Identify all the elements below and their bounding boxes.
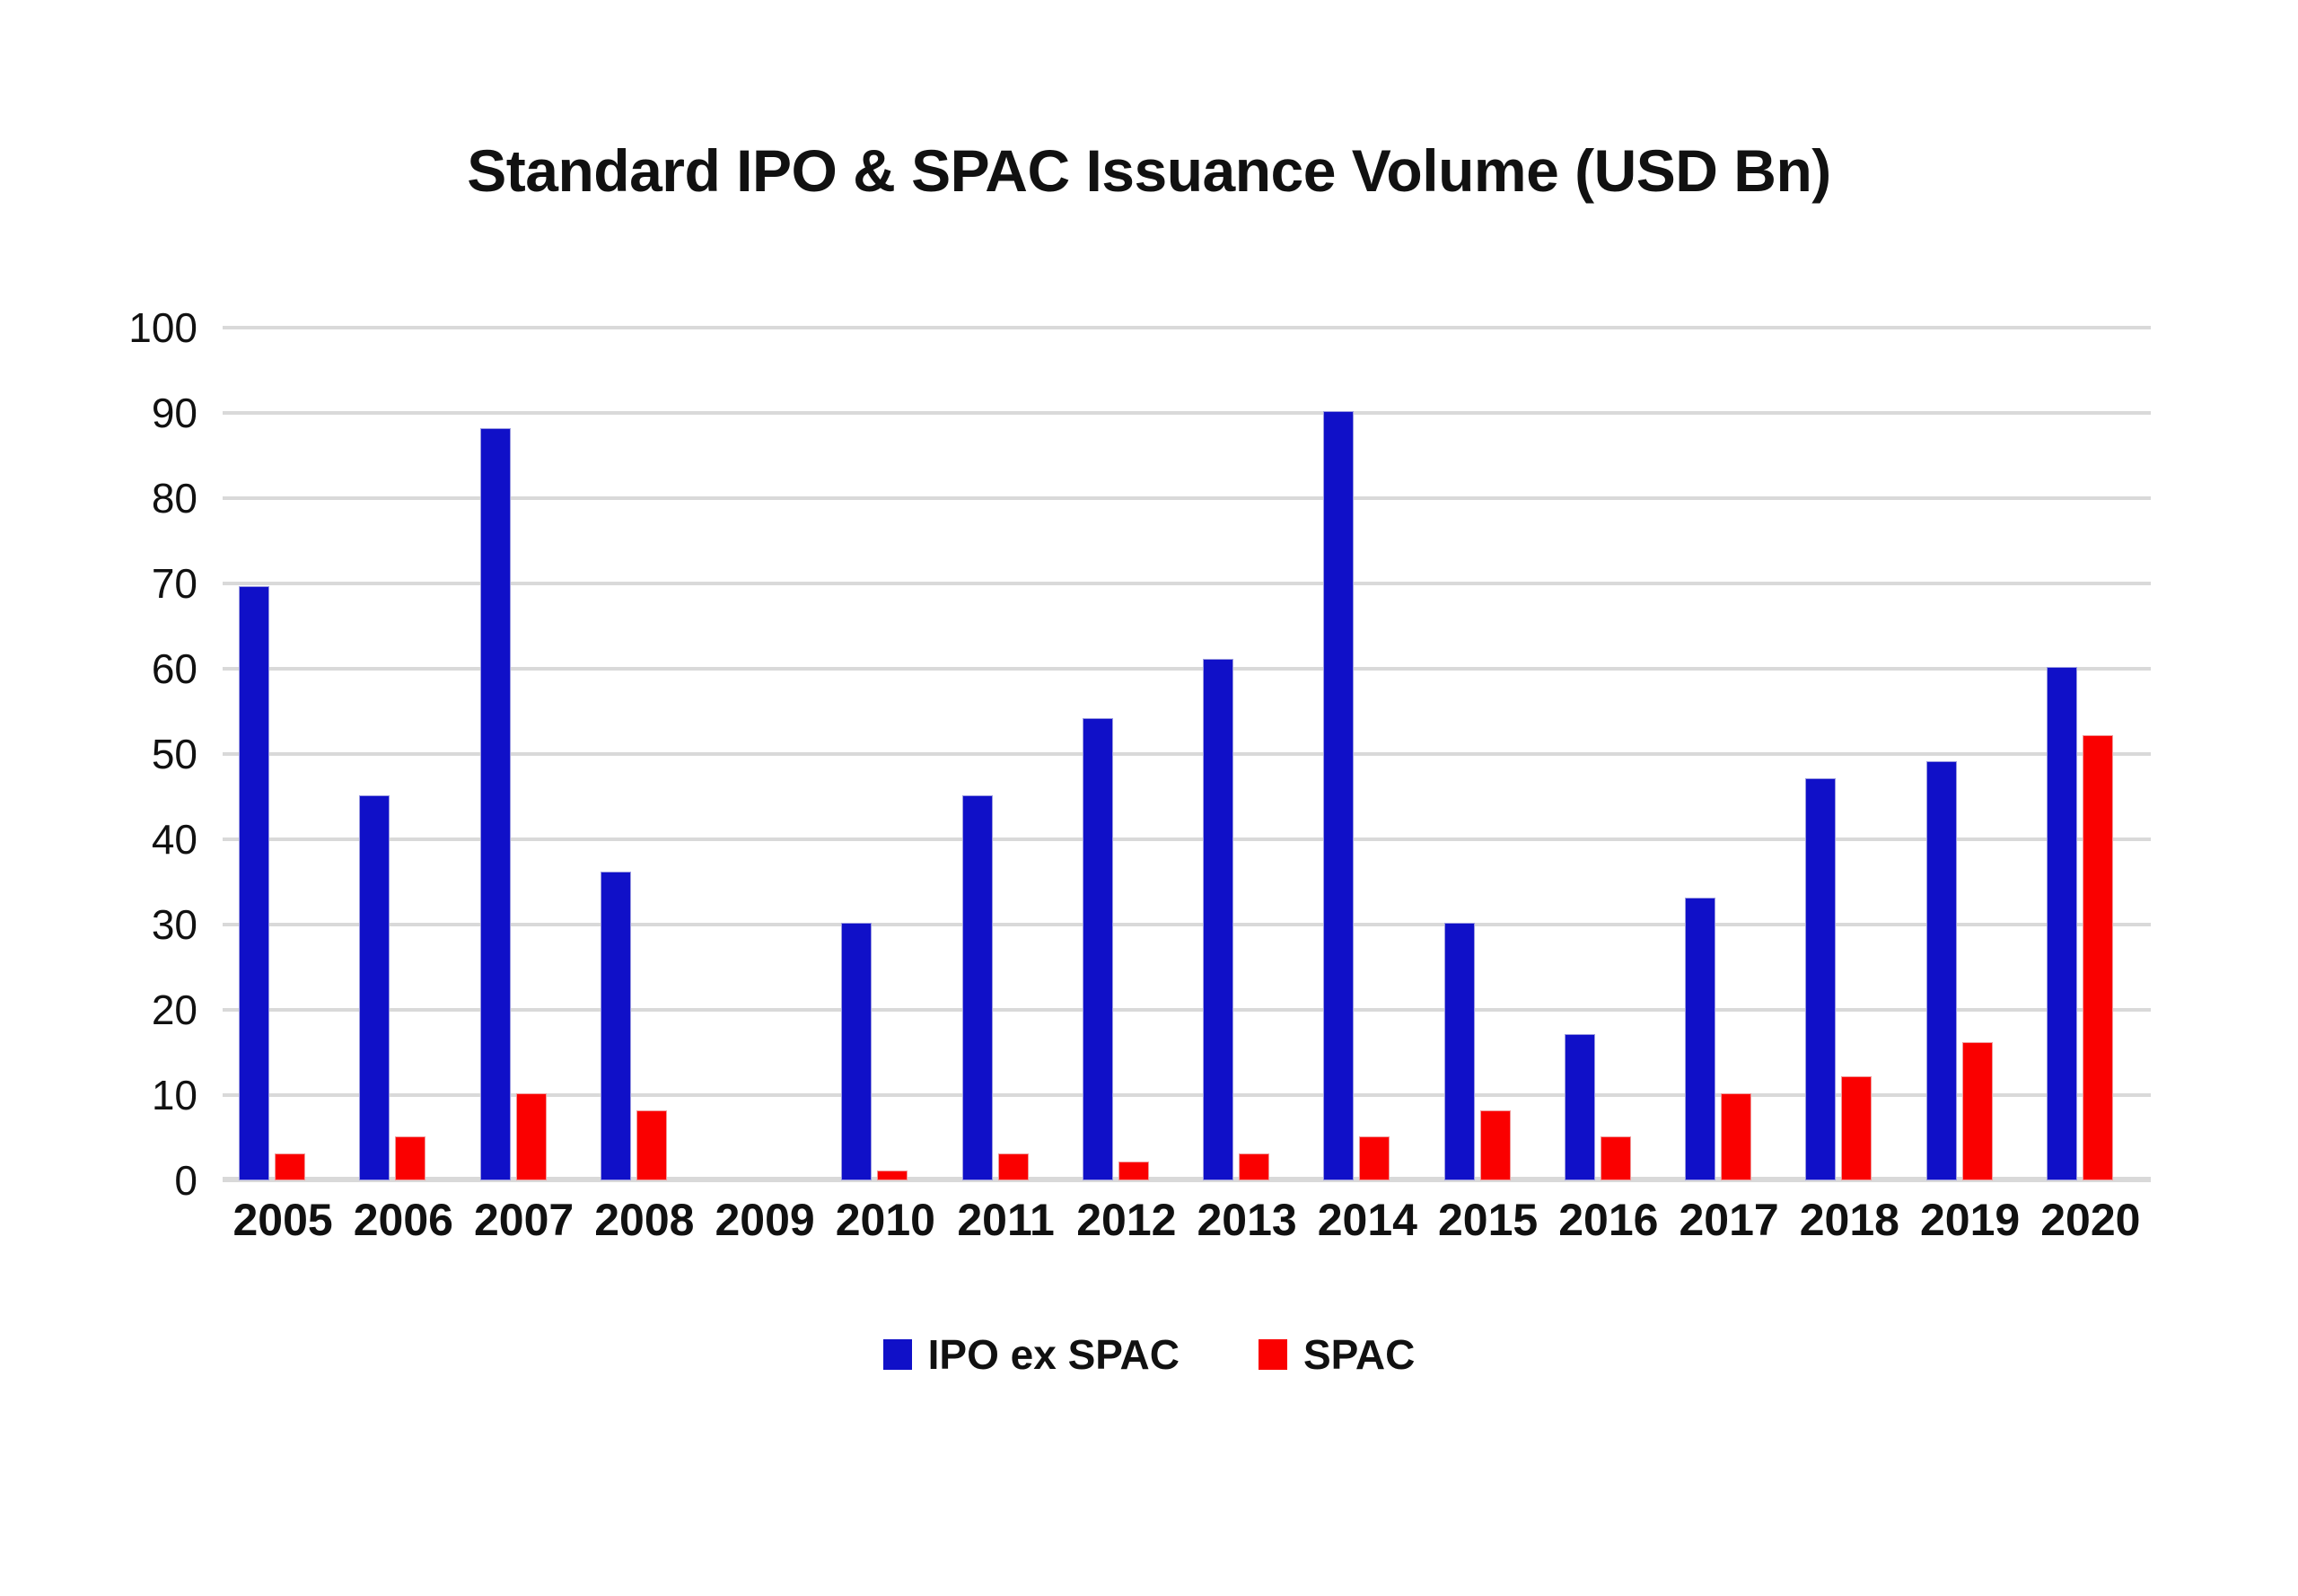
page-title: Standard IPO & SPAC Issuance Volume (USD… (0, 136, 2298, 205)
legend-item[interactable]: SPAC (1259, 1330, 1415, 1379)
bar-group (343, 328, 463, 1180)
y-axis-tick-label: 100 (128, 303, 197, 352)
y-axis-tick-label: 40 (152, 815, 197, 864)
bar-ipo-ex-spac[interactable] (1323, 411, 1354, 1180)
bar-ipo-ex-spac[interactable] (1083, 718, 1113, 1180)
bar-group (2030, 328, 2151, 1180)
bar-group (1548, 328, 1669, 1180)
bar-spac[interactable] (1239, 1153, 1269, 1181)
legend-swatch-icon (1259, 1339, 1287, 1370)
bar-spac[interactable] (2083, 735, 2113, 1180)
bar-group (1428, 328, 1548, 1180)
bar-spac[interactable] (275, 1153, 305, 1181)
bar-spac[interactable] (1359, 1136, 1390, 1181)
bar-group (705, 328, 825, 1180)
bar-group (1910, 328, 2030, 1180)
bar-spac[interactable] (1480, 1110, 1511, 1180)
x-axis-tick-label: 2006 (343, 1194, 463, 1246)
bar-group (464, 328, 584, 1180)
bar-ipo-ex-spac[interactable] (1926, 761, 1957, 1181)
x-axis-tick-label: 2012 (1066, 1194, 1187, 1246)
bar-ipo-ex-spac[interactable] (2047, 667, 2077, 1180)
x-axis-tick-label: 2014 (1307, 1194, 1427, 1246)
bar-ipo-ex-spac[interactable] (1444, 923, 1475, 1180)
chart-legend: IPO ex SPACSPAC (0, 1330, 2298, 1379)
bar-ipo-ex-spac[interactable] (962, 795, 993, 1181)
x-axis-tick-label: 2016 (1548, 1194, 1669, 1246)
y-axis-tick-label: 90 (152, 389, 197, 437)
bar-group (584, 328, 705, 1180)
bar-group (1669, 328, 1789, 1180)
y-axis-tick-label: 30 (152, 900, 197, 949)
bar-group (1789, 328, 1909, 1180)
x-axis: 2005200620072008200920102011201220132014… (223, 1194, 2151, 1266)
bar-ipo-ex-spac[interactable] (359, 795, 390, 1181)
bar-ipo-ex-spac[interactable] (1565, 1034, 1595, 1181)
bar-group (825, 328, 945, 1180)
bar-spac[interactable] (1841, 1076, 1872, 1180)
bar-ipo-ex-spac[interactable] (841, 923, 872, 1180)
x-axis-tick-label: 2010 (825, 1194, 945, 1246)
legend-label: IPO ex SPAC (928, 1330, 1180, 1379)
legend-item[interactable]: IPO ex SPAC (883, 1330, 1180, 1379)
y-axis-tick-label: 0 (174, 1156, 197, 1205)
x-axis-tick-label: 2013 (1187, 1194, 1307, 1246)
bar-ipo-ex-spac[interactable] (1685, 898, 1715, 1181)
x-axis-tick-label: 2008 (584, 1194, 705, 1246)
chart-canvas: Standard IPO & SPAC Issuance Volume (USD… (0, 0, 2298, 1596)
x-axis-tick-label: 2005 (223, 1194, 343, 1246)
bar-ipo-ex-spac[interactable] (1805, 778, 1836, 1181)
x-axis-tick-label: 2011 (946, 1194, 1066, 1246)
x-axis-tick-label: 2018 (1789, 1194, 1909, 1246)
bar-ipo-ex-spac[interactable] (239, 586, 269, 1180)
bar-spac[interactable] (395, 1136, 425, 1181)
bar-group (1066, 328, 1187, 1180)
legend-label: SPAC (1303, 1330, 1415, 1379)
x-axis-tick-label: 2019 (1910, 1194, 2030, 1246)
bar-spac[interactable] (516, 1093, 547, 1180)
y-axis-tick-label: 10 (152, 1071, 197, 1119)
y-axis-tick-label: 70 (152, 559, 197, 608)
y-axis-tick-label: 50 (152, 730, 197, 778)
bar-ipo-ex-spac[interactable] (1203, 659, 1233, 1181)
y-axis: 0102030405060708090100 (54, 328, 197, 1180)
y-axis-tick-label: 60 (152, 645, 197, 693)
bar-group (1187, 328, 1307, 1180)
bar-ipo-ex-spac[interactable] (601, 872, 631, 1180)
bar-group (946, 328, 1066, 1180)
bars-layer (223, 328, 2151, 1180)
bar-spac[interactable] (1721, 1093, 1751, 1180)
y-axis-tick-label: 80 (152, 474, 197, 522)
bar-ipo-ex-spac[interactable] (480, 428, 511, 1180)
legend-swatch-icon (883, 1339, 912, 1370)
bar-group (1307, 328, 1427, 1180)
bar-spac[interactable] (877, 1171, 908, 1181)
y-axis-tick-label: 20 (152, 986, 197, 1034)
x-axis-tick-label: 2009 (705, 1194, 825, 1246)
bar-spac[interactable] (1118, 1162, 1149, 1180)
bar-spac[interactable] (636, 1110, 667, 1180)
x-axis-tick-label: 2007 (464, 1194, 584, 1246)
bar-spac[interactable] (998, 1153, 1029, 1181)
bar-group (223, 328, 343, 1180)
bar-spac[interactable] (1601, 1136, 1631, 1181)
x-axis-tick-label: 2015 (1428, 1194, 1548, 1246)
x-axis-tick-label: 2020 (2030, 1194, 2151, 1246)
x-axis-tick-label: 2017 (1669, 1194, 1789, 1246)
bar-spac[interactable] (1962, 1042, 1993, 1180)
